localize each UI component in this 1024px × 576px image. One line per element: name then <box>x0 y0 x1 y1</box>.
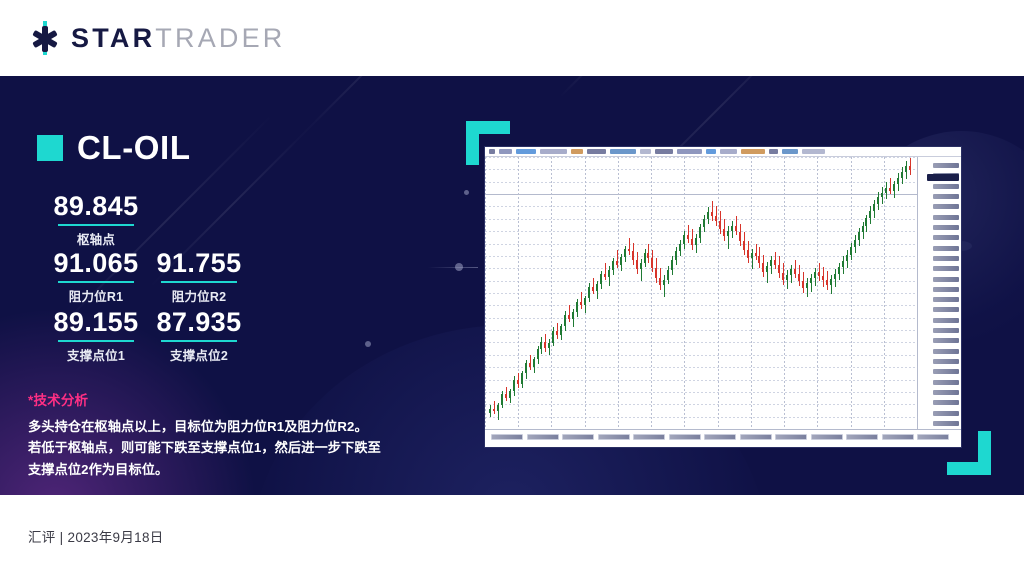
chart-gridline-horizontal <box>485 392 917 393</box>
candlestick-body <box>707 212 709 219</box>
chart-gridline-horizontal <box>485 330 917 331</box>
candlestick-body <box>881 193 883 197</box>
candlestick-body <box>560 326 562 335</box>
candlestick-body <box>818 272 820 276</box>
stat-r1-label: 阻力位R1 <box>40 286 152 305</box>
candlestick-wick <box>494 401 495 414</box>
chart-gridline-horizontal <box>485 318 917 319</box>
candlestick-body <box>525 363 527 373</box>
candlestick-body <box>675 251 677 260</box>
time-axis-tick <box>811 434 843 440</box>
decor-line-1 <box>428 267 478 268</box>
title-marker-square <box>37 135 63 161</box>
candlestick-body <box>858 232 860 239</box>
candlestick-body <box>873 204 875 211</box>
stat-pivot-value: 89.845 <box>40 192 152 220</box>
brand-wordmark: STARTRADER <box>71 25 286 52</box>
chart-gridline-horizontal <box>485 380 917 381</box>
stat-r2-value: 91.755 <box>143 249 255 277</box>
candlestick-body <box>588 287 590 298</box>
price-axis-tick <box>933 266 959 271</box>
candlestick-body <box>537 349 539 358</box>
stat-s2-value: 87.935 <box>143 308 255 336</box>
streak-3 <box>299 76 449 138</box>
analysis-heading: *技术分析 <box>28 389 398 409</box>
candlestick-wick <box>728 226 729 248</box>
candlestick-body <box>663 280 665 285</box>
chart-gridline-vertical <box>518 157 519 429</box>
candlestick-body <box>889 188 891 191</box>
price-axis-tick <box>933 235 959 240</box>
candlestick-body <box>540 342 542 349</box>
stat-pivot: 89.845 枢轴点 <box>40 192 152 248</box>
candlestick-wick <box>617 250 618 268</box>
analysis-line-2: 若低于枢轴点，则可能下跌至支撑点位1，然后进一步下跌至 <box>28 437 398 458</box>
chart-gridline-horizontal <box>485 367 917 368</box>
candlestick-body <box>838 267 840 274</box>
candlestick-body <box>584 298 586 305</box>
toolbar-token <box>571 149 583 154</box>
candlestick-body <box>798 274 800 281</box>
chart-gridline-horizontal <box>485 293 917 294</box>
candlestick-body <box>552 331 554 343</box>
candlestick-body <box>794 269 796 273</box>
chart-gridline-horizontal <box>485 417 917 418</box>
chart-gridline-horizontal <box>485 194 917 195</box>
candlestick-body <box>604 274 606 277</box>
chart-gridline-horizontal <box>485 404 917 405</box>
candlestick-body <box>695 238 697 245</box>
toolbar-token <box>610 149 636 154</box>
candlestick-body <box>596 284 598 291</box>
candlestick-body <box>659 278 661 285</box>
candlestick-body <box>655 268 657 278</box>
toolbar-token <box>499 149 512 154</box>
candlestick-body <box>735 226 737 232</box>
candlestick-body <box>869 211 871 219</box>
price-axis-tick <box>933 338 959 343</box>
bracket-br-vertical <box>978 431 991 475</box>
candlestick-body <box>647 253 649 258</box>
chart-gridline-horizontal <box>485 305 917 306</box>
stat-s2-label: 支撑点位2 <box>143 345 255 364</box>
candlestick-wick <box>581 292 582 309</box>
toolbar-token <box>655 149 673 154</box>
stat-s1-value: 89.155 <box>40 308 152 336</box>
candlestick-wick <box>712 201 713 221</box>
chart-gridline-vertical <box>817 157 818 429</box>
page-header: STARTRADER <box>0 0 1024 76</box>
price-axis-tick <box>933 225 959 230</box>
chart-gridline-horizontal <box>485 231 917 232</box>
candlestick-body <box>814 272 816 278</box>
candlestick-wick <box>569 305 570 322</box>
price-axis-tick <box>933 287 959 292</box>
chart-gridline-horizontal <box>485 206 917 207</box>
candlestick-body <box>624 249 626 257</box>
price-axis-tick <box>933 318 959 323</box>
chart-gridline-vertical <box>618 157 619 429</box>
chart-gridline-horizontal <box>485 169 917 170</box>
candlestick-body <box>489 409 491 413</box>
candlestick-body <box>862 226 864 232</box>
hero-panel: CL-OIL 89.845 枢轴点 91.065 阻力位R1 91.755 阻力… <box>0 76 1024 495</box>
candlestick-body <box>766 266 768 271</box>
candlestick-body <box>762 263 764 271</box>
streak-5 <box>559 76 645 98</box>
toolbar-token <box>769 149 778 154</box>
stat-r2-rule <box>161 281 237 283</box>
candlestick-body <box>628 249 630 251</box>
candlestick-body <box>533 359 535 368</box>
candlestick-body <box>497 405 499 412</box>
candlestick-body <box>517 380 519 384</box>
time-axis-tick <box>633 434 665 440</box>
price-axis-tick <box>933 194 959 199</box>
analysis-line-1: 多头持仓在枢轴点以上，目标位为阻力位R1及阻力位R2。 <box>28 416 398 437</box>
technical-analysis-block: *技术分析 多头持仓在枢轴点以上，目标位为阻力位R1及阻力位R2。 若低于枢轴点… <box>28 389 398 480</box>
candlestick-body <box>770 260 772 266</box>
page-footer: 汇评 | 2023年9月18日 <box>0 495 1024 576</box>
candlestick-body <box>616 261 618 265</box>
time-axis-tick <box>598 434 630 440</box>
chart-toolbar-strip <box>485 147 961 157</box>
brand-logo[interactable]: STARTRADER <box>28 21 286 55</box>
candlestick-body <box>576 302 578 312</box>
candlestick-body <box>877 197 879 204</box>
candlestick-wick <box>629 238 630 254</box>
time-axis-tick <box>882 434 914 440</box>
chart-gridline-vertical <box>551 157 552 429</box>
candlestick-body <box>850 247 852 255</box>
time-axis-tick <box>917 434 949 440</box>
stat-resistance-2: 91.755 阻力位R2 <box>143 249 255 305</box>
candlestick-body <box>651 258 653 268</box>
stat-resistance-1: 91.065 阻力位R1 <box>40 249 152 305</box>
candlestick-body <box>683 235 685 244</box>
price-axis-tick <box>933 246 959 251</box>
candlestick-wick <box>688 225 689 243</box>
candlestick-body <box>719 221 721 229</box>
chart-gridline-horizontal <box>485 219 917 220</box>
candlestick-body <box>636 260 638 268</box>
chart-gridline-vertical <box>485 157 486 429</box>
brand-name-bold: STAR <box>71 23 155 53</box>
time-axis-tick <box>775 434 807 440</box>
chart-gridline-vertical <box>851 157 852 429</box>
candlestick-body <box>556 331 558 335</box>
chart-gridline-horizontal <box>485 281 917 282</box>
brand-name-light: TRADER <box>155 23 285 53</box>
candlestick-body <box>691 239 693 245</box>
toolbar-token <box>677 149 702 154</box>
price-axis-tick <box>933 297 959 302</box>
candlestick-body <box>743 241 745 250</box>
candlestick-body <box>620 257 622 265</box>
price-axis-tick <box>933 390 959 395</box>
asterisk-star-icon <box>28 21 62 55</box>
chart-time-axis[interactable] <box>485 429 961 447</box>
price-axis-tick <box>933 256 959 261</box>
candlestick-body <box>544 342 546 348</box>
price-axis-tick <box>933 204 959 209</box>
candlestick-body <box>711 212 713 216</box>
chart-gridline-vertical <box>784 157 785 429</box>
page-title: CL-OIL <box>77 131 191 164</box>
chart-gridline-horizontal <box>485 244 917 245</box>
instrument-title: CL-OIL <box>37 131 191 164</box>
stat-pivot-label: 枢轴点 <box>40 229 152 248</box>
candlestick-body <box>667 270 669 280</box>
toolbar-token <box>802 149 825 154</box>
chart-gridline-horizontal <box>485 256 917 257</box>
stat-support-2: 87.935 支撑点位2 <box>143 308 255 364</box>
candlestick-body <box>790 269 792 274</box>
candlestick-wick <box>787 270 788 290</box>
price-axis-tick <box>933 328 959 333</box>
toolbar-token <box>516 149 536 154</box>
price-axis-tick <box>933 359 959 364</box>
price-axis-tick <box>933 163 959 168</box>
candlestick-body <box>806 283 808 288</box>
candlestick-body <box>751 253 753 258</box>
stat-r2-label: 阻力位R2 <box>143 286 255 305</box>
time-axis-tick <box>704 434 736 440</box>
candlestick-body <box>640 263 642 269</box>
candlestick-wick <box>811 274 812 292</box>
candlestick-body <box>632 251 634 260</box>
candlestick-body <box>548 343 550 348</box>
asterisk-glyph <box>30 25 60 53</box>
candlestick-body <box>747 250 749 258</box>
candlestick-body <box>755 253 757 256</box>
candlestick-body <box>727 231 729 236</box>
toolbar-token <box>706 149 716 154</box>
chart-price-axis[interactable] <box>917 157 961 429</box>
toolbar-token <box>720 149 737 154</box>
price-axis-tick <box>933 421 959 426</box>
chart-gridline-vertical <box>585 157 586 429</box>
candlestick-body <box>885 188 887 193</box>
candlestick-body <box>901 172 903 178</box>
candlestick-wick <box>807 278 808 297</box>
stat-s1-rule <box>58 340 134 342</box>
candlestick-body <box>505 394 507 398</box>
candlestick-body <box>897 178 899 185</box>
candlestick-body <box>905 166 907 171</box>
chart-gridline-horizontal <box>485 268 917 269</box>
candlestick-body <box>865 218 867 226</box>
candlestick-body <box>826 280 828 285</box>
candlestick-body <box>612 261 614 270</box>
toolbar-token <box>540 149 567 154</box>
candlestick-body <box>778 265 780 273</box>
candlestick-body <box>731 226 733 231</box>
chart-gridline-vertical <box>684 157 685 429</box>
candlestick-body <box>564 315 566 326</box>
price-axis-tick <box>933 277 959 282</box>
candlestick-body <box>846 255 848 261</box>
stat-s1-label: 支撑点位1 <box>40 345 152 364</box>
candlestick-body <box>644 253 646 263</box>
candlestick-body <box>513 380 515 391</box>
footer-text: 汇评 | 2023年9月18日 <box>28 526 164 546</box>
price-axis-tick <box>933 380 959 385</box>
candlestick-body <box>679 244 681 251</box>
time-axis-tick <box>669 434 701 440</box>
stat-pivot-rule <box>58 224 134 226</box>
toolbar-token <box>587 149 606 154</box>
candlestick-body <box>810 278 812 282</box>
candlestick-body <box>687 235 689 239</box>
candlestick-wick <box>664 275 665 297</box>
price-axis-tick <box>933 184 959 189</box>
candlestick-body <box>703 219 705 227</box>
candlestick-body <box>822 276 824 280</box>
candlestick-wick <box>890 178 891 194</box>
price-axis-tick <box>933 349 959 354</box>
candlestick-body <box>909 166 911 170</box>
candlestick-body <box>671 260 673 269</box>
price-axis-tick <box>933 215 959 220</box>
time-axis-tick <box>491 434 523 440</box>
candlestick-body <box>739 232 741 242</box>
chart-gridline-horizontal <box>485 182 917 183</box>
candlestick-body <box>786 275 788 280</box>
candlestick-body <box>529 363 531 367</box>
chart-gridline-vertical <box>651 157 652 429</box>
candlestick-body <box>501 394 503 405</box>
time-axis-tick <box>740 434 772 440</box>
candlestick-body <box>758 256 760 263</box>
decor-dot-2 <box>365 341 371 347</box>
candlestick-body <box>699 227 701 238</box>
price-axis-tick <box>933 369 959 374</box>
candlestick-wick <box>752 249 753 270</box>
stat-r1-value: 91.065 <box>40 249 152 277</box>
candlestick-body <box>842 261 844 267</box>
chart-gridline-vertical <box>751 157 752 429</box>
stat-r1-rule <box>58 281 134 283</box>
time-axis-tick <box>527 434 559 440</box>
price-axis-tick <box>933 400 959 405</box>
candlestick-body <box>893 184 895 191</box>
toolbar-token <box>741 149 765 154</box>
toolbar-token <box>489 149 495 154</box>
candlestick-body <box>580 302 582 306</box>
candlestick-body <box>608 270 610 277</box>
candlestick-wick <box>605 263 606 279</box>
current-price-tag <box>927 174 959 181</box>
time-axis-tick <box>846 434 878 440</box>
price-chart[interactable] <box>484 146 962 448</box>
candlestick-body <box>521 373 523 384</box>
bracket-tl-vertical <box>466 121 479 165</box>
candlestick-body <box>592 287 594 291</box>
time-axis-tick <box>562 434 594 440</box>
poster-root: STARTRADER CL-OIL <box>0 0 1024 576</box>
price-axis-tick <box>933 307 959 312</box>
candlestick-body <box>600 274 602 284</box>
price-axis-tick <box>933 411 959 416</box>
candlestick-body <box>568 315 570 319</box>
chart-plot-area[interactable] <box>485 157 917 429</box>
candlestick-body <box>830 279 832 285</box>
candlestick-body <box>782 273 784 280</box>
candlestick-body <box>509 391 511 398</box>
stat-support-1: 89.155 支撑点位1 <box>40 308 152 364</box>
candlestick-body <box>715 216 717 220</box>
candlestick-body <box>802 281 804 288</box>
toolbar-token <box>782 149 798 154</box>
candlestick-wick <box>767 262 768 283</box>
chart-gridline-horizontal <box>485 355 917 356</box>
analysis-line-3: 支撑点位2作为目标位。 <box>28 459 398 480</box>
candlestick-body <box>723 229 725 237</box>
candlestick-body <box>834 274 836 279</box>
stat-s2-rule <box>161 340 237 342</box>
chart-gridline-horizontal <box>485 157 917 158</box>
decor-dot-1 <box>464 190 469 195</box>
toolbar-token <box>640 149 651 154</box>
candlestick-body <box>854 240 856 247</box>
chart-gridline-vertical <box>718 157 719 429</box>
candlestick-body <box>774 260 776 264</box>
candlestick-body <box>572 312 574 319</box>
candlestick-body <box>493 409 495 411</box>
